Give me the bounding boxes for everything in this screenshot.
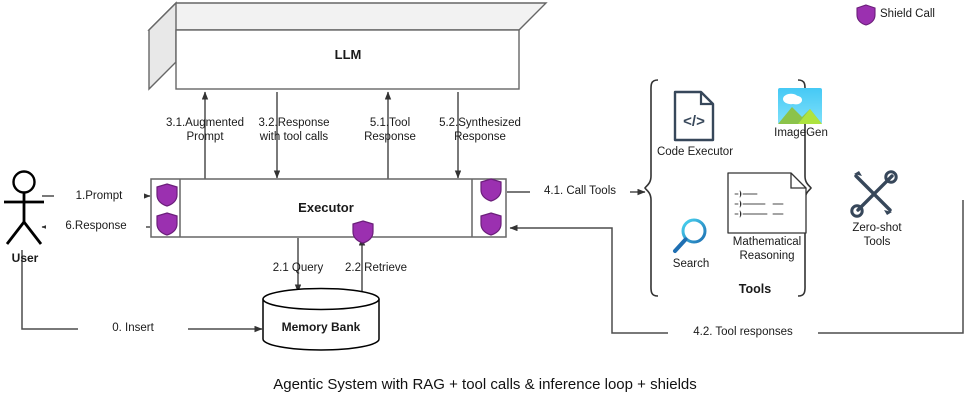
code-document-icon[interactable]: </> xyxy=(673,90,715,142)
shield-icon xyxy=(352,220,374,244)
user-node[interactable] xyxy=(2,170,47,248)
edge-label-query: 2.1 Query xyxy=(258,262,338,276)
edge-label-insert: 0. Insert xyxy=(78,322,188,336)
shield-icon xyxy=(156,212,178,236)
edge-label-call-tools: 4.1. Call Tools xyxy=(530,185,630,199)
llm-label: LLM xyxy=(148,48,548,62)
image-gen-icon[interactable] xyxy=(778,88,822,124)
shield-icon xyxy=(480,178,502,202)
memory-bank-node[interactable] xyxy=(262,288,380,350)
shield-icon xyxy=(480,212,502,236)
tool-label-search: Search xyxy=(655,258,727,272)
edge-label-synthesized-response: 5.2.Synthesized Response xyxy=(420,117,540,144)
tool-label-math-reasoning: Mathematical Reasoning xyxy=(725,236,809,263)
diagram-caption: Agentic System with RAG + tool calls & i… xyxy=(0,376,970,393)
legend-shield-icon xyxy=(856,4,876,26)
user-label: User xyxy=(0,252,50,266)
svg-text:</>: </> xyxy=(683,113,705,130)
edge-label-response: 6.Response xyxy=(46,220,146,234)
edge-label-response-with-tool-calls: 3.2.Response with tool calls xyxy=(234,117,354,144)
shield-icon xyxy=(156,183,178,207)
tool-label-code-executor: Code Executor xyxy=(650,146,740,160)
edge-label-prompt: 1.Prompt xyxy=(54,190,144,204)
edge-label-tool-responses: 4.2. Tool responses xyxy=(668,326,818,340)
executor-label: Executor xyxy=(180,201,472,215)
math-document-icon[interactable] xyxy=(727,172,807,234)
tool-label-zero-shot: Zero-shot Tools xyxy=(842,222,912,249)
crossed-tools-icon[interactable] xyxy=(848,168,900,220)
legend-label: Shield Call xyxy=(880,8,970,22)
magnifier-icon[interactable] xyxy=(672,218,710,256)
tool-label-imagegen: ImageGen xyxy=(760,127,842,141)
edge-label-retrieve: 2.2 Retrieve xyxy=(330,262,422,276)
memory-bank-label: Memory Bank xyxy=(262,321,380,335)
tools-group-label: Tools xyxy=(700,283,810,297)
